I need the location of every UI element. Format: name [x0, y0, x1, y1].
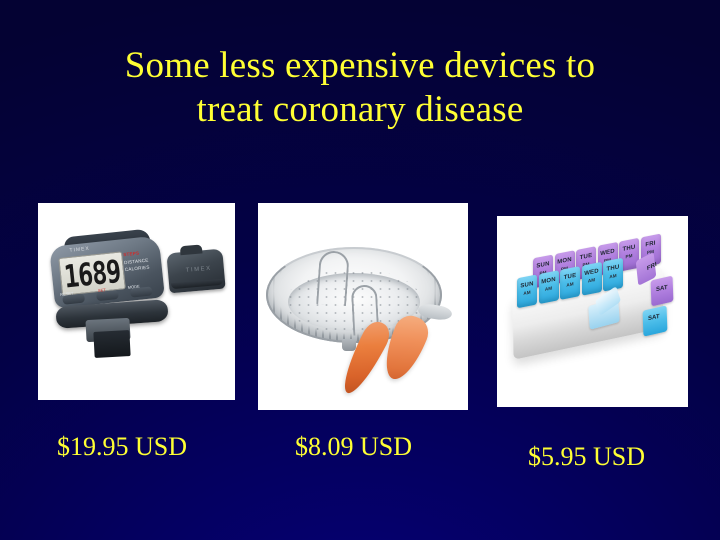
- steamer-basket-foot: [342, 339, 356, 351]
- pill-cell-tue-am: TUE AM: [560, 266, 580, 300]
- pill-cell-mon-am: MON AM: [539, 270, 559, 304]
- pedometer-step-count: 1689: [62, 253, 122, 295]
- pedometer-reset-button: [62, 294, 85, 305]
- pedometer-mode-labels: STEPS DISTANCE CALORIES: [123, 248, 159, 274]
- pedometer-illustration: TIMEX 1689 STEPS DISTANCE CALORIES RESET…: [38, 203, 235, 400]
- pedometer-body: TIMEX 1689 STEPS DISTANCE CALORIES RESET…: [49, 235, 165, 308]
- title-line-1: Some less expensive devices to: [125, 45, 595, 86]
- price-label-steamer-basket: $8.09 USD: [295, 432, 412, 462]
- slide-canvas: Some less expensive devices to treat cor…: [0, 0, 720, 540]
- pedometer-clip-foot: [93, 330, 130, 358]
- pill-cell-sun-am: SUN AM: [517, 274, 537, 308]
- pill-organizer-illustration: SUN PM MON PM TUE PM WED PM THU PM: [497, 216, 688, 407]
- pedometer-cover-lip: [171, 279, 223, 290]
- product-image-pill-organizer: SUN PM MON PM TUE PM WED PM THU PM: [497, 216, 688, 407]
- steamer-handle-rear: [316, 250, 350, 306]
- pedometer-mode-button: [130, 286, 153, 297]
- pedometer-brand-label: TIMEX: [69, 246, 90, 254]
- pedometer-cover-tab: [180, 244, 203, 255]
- pill-cell-wed-am: WED AM: [582, 262, 602, 296]
- pedometer-cover: TIMEX: [166, 249, 225, 294]
- price-label-pill-organizer: $5.95 USD: [528, 442, 645, 472]
- pill-cell-period-label: AM: [539, 284, 559, 293]
- pill-cell-period-label: AM: [603, 272, 623, 281]
- pill-cell-period-label: AM: [560, 280, 580, 289]
- product-image-pedometer: TIMEX 1689 STEPS DISTANCE CALORIES RESET…: [38, 203, 235, 400]
- pill-cell-period-label: AM: [517, 288, 537, 297]
- page-title: Some less expensive devices to treat cor…: [0, 44, 720, 132]
- pedometer-cover-brand-label: TIMEX: [186, 266, 212, 274]
- pill-cell-period-label: AM: [582, 276, 602, 285]
- price-label-pedometer: $19.95 USD: [57, 432, 187, 462]
- pedometer-set-button: [96, 290, 119, 301]
- pill-cell-sat-am: [643, 305, 668, 336]
- steamer-illustration: [258, 203, 468, 410]
- product-image-steamer-basket: [258, 203, 468, 410]
- title-line-2: treat coronary disease: [0, 88, 720, 132]
